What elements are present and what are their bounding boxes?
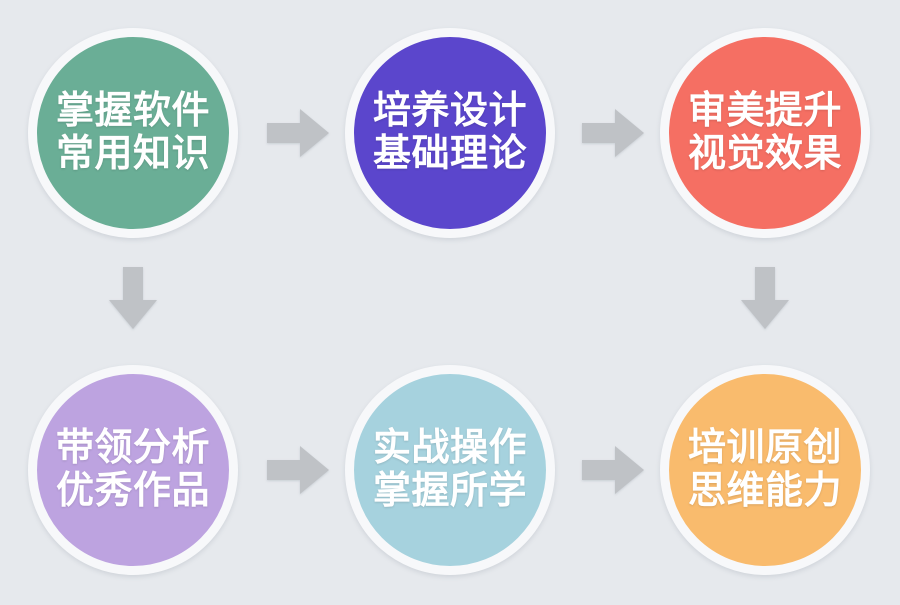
- arrow-right-icon: [267, 109, 329, 157]
- flow-node-6[interactable]: 培训原创 思维能力: [660, 365, 870, 575]
- flow-node-2[interactable]: 培养设计 基础理论: [345, 28, 555, 238]
- flow-node-6-line1: 培训原创: [688, 427, 842, 470]
- flow-node-3-line1: 审美提升: [688, 90, 842, 133]
- flow-node-4-line1: 带领分析: [56, 427, 210, 470]
- flow-diagram-canvas: 掌握软件 常用知识 培养设计 基础理论 审美提升 视觉效果 带领分析 优秀作品 …: [0, 0, 900, 605]
- arrow-down-icon: [741, 267, 789, 329]
- flow-node-1[interactable]: 掌握软件 常用知识: [28, 28, 238, 238]
- arrow-right-icon: [582, 446, 644, 494]
- flow-node-2-line2: 基础理论: [373, 133, 527, 176]
- flow-node-2-line1: 培养设计: [373, 90, 527, 133]
- flow-node-1-line1: 掌握软件: [56, 90, 210, 133]
- flow-node-6-line2: 思维能力: [688, 470, 842, 513]
- arrow-right-icon: [582, 109, 644, 157]
- flow-node-5-line1: 实战操作: [373, 427, 527, 470]
- arrow-down-icon: [109, 267, 157, 329]
- flow-node-3-line2: 视觉效果: [688, 133, 842, 176]
- flow-node-5[interactable]: 实战操作 掌握所学: [345, 365, 555, 575]
- flow-node-4[interactable]: 带领分析 优秀作品: [28, 365, 238, 575]
- flow-node-1-line2: 常用知识: [56, 133, 210, 176]
- flow-node-4-line2: 优秀作品: [56, 470, 210, 513]
- flow-node-3[interactable]: 审美提升 视觉效果: [660, 28, 870, 238]
- flow-node-5-line2: 掌握所学: [373, 470, 527, 513]
- arrow-right-icon: [267, 446, 329, 494]
